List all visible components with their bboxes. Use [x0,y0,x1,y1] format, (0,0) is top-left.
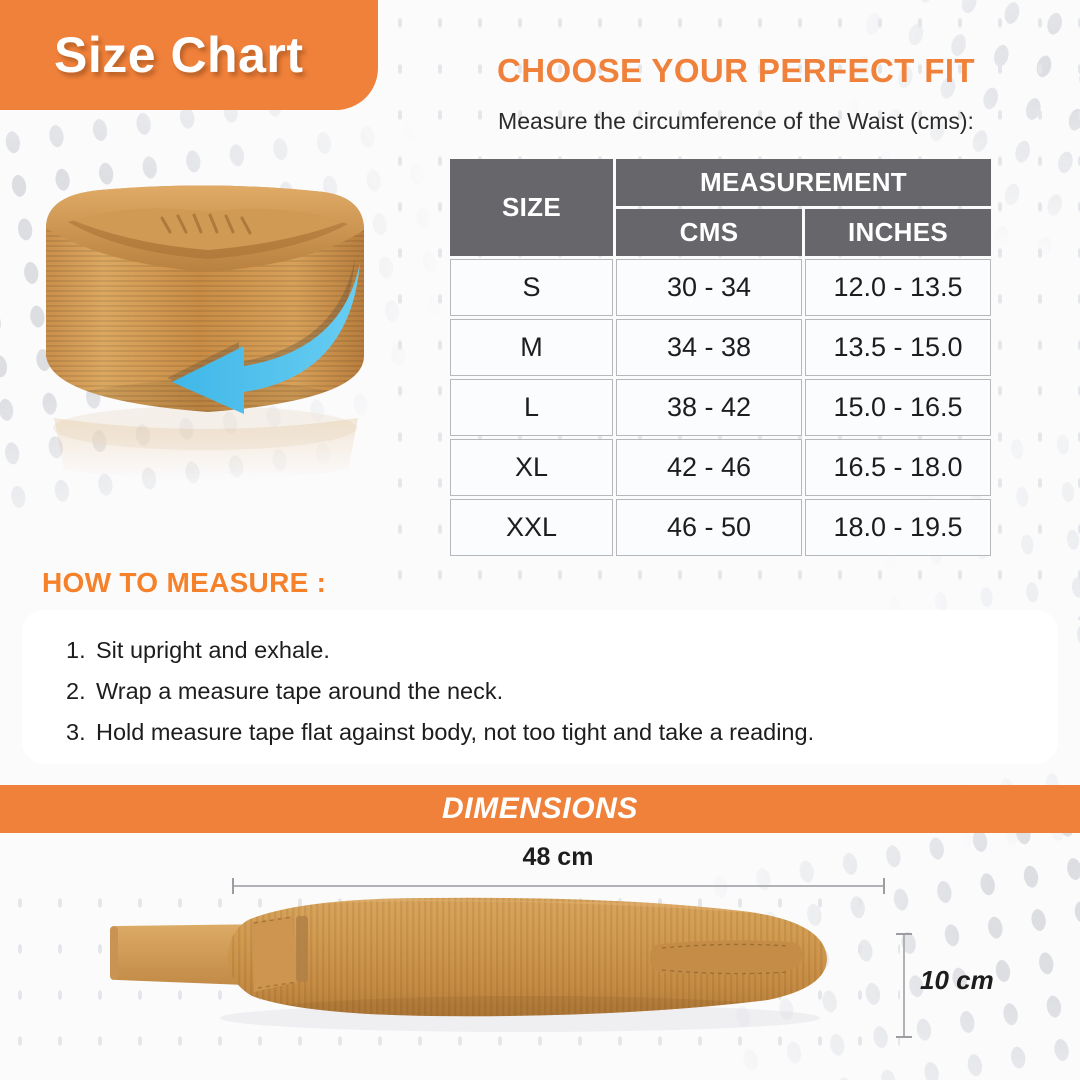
list-item: 3. Hold measure tape flat against body, … [66,712,1058,753]
cell-cms: 42 - 46 [616,439,802,496]
step-number: 3. [66,712,96,753]
table-row: XXL 46 - 50 18.0 - 19.5 [450,499,991,556]
cell-inches: 16.5 - 18.0 [805,439,991,496]
table-row: L 38 - 42 15.0 - 16.5 [450,379,991,436]
how-to-measure-list: 1. Sit upright and exhale. 2. Wrap a mea… [22,610,1058,753]
width-dimension-line [232,885,885,887]
cell-size: L [450,379,613,436]
step-number: 1. [66,630,96,671]
height-dimension-label: 10 cm [920,965,994,996]
dimensions-band: DIMENSIONS [0,785,1080,833]
step-text: Wrap a measure tape around the neck. [96,671,503,712]
cell-inches: 13.5 - 15.0 [805,319,991,376]
header-size: SIZE [450,159,613,256]
height-dimension-line [903,933,905,1038]
list-item: 2. Wrap a measure tape around the neck. [66,671,1058,712]
how-to-measure-card: 1. Sit upright and exhale. 2. Wrap a mea… [22,610,1058,764]
cervical-collar-flat-image [100,890,900,1040]
table-header-row-1: SIZE MEASUREMENT [450,159,991,206]
table-row: XL 42 - 46 16.5 - 18.0 [450,439,991,496]
list-item: 1. Sit upright and exhale. [66,630,1058,671]
table-row: S 30 - 34 12.0 - 13.5 [450,259,991,316]
how-to-measure-heading: HOW TO MEASURE : [42,567,326,599]
page-title: Size Chart [0,26,304,84]
header-measurement: MEASUREMENT [616,159,991,206]
step-text: Hold measure tape flat against body, not… [96,712,814,753]
size-chart-page: Size Chart CHOOSE YOUR PERFECT FIT Measu… [0,0,1080,1080]
cell-cms: 46 - 50 [616,499,802,556]
cell-size: XL [450,439,613,496]
size-table: SIZE MEASUREMENT CMS INCHES S 30 - 34 12… [447,156,994,559]
dimensions-label: DIMENSIONS [442,792,638,826]
fit-subtitle: Measure the circumference of the Waist (… [436,108,1036,135]
cell-inches: 18.0 - 19.5 [805,499,991,556]
cell-inches: 12.0 - 13.5 [805,259,991,316]
title-banner: Size Chart [0,0,378,110]
cell-cms: 30 - 34 [616,259,802,316]
cell-size: M [450,319,613,376]
table-row: M 34 - 38 13.5 - 15.0 [450,319,991,376]
cell-cms: 34 - 38 [616,319,802,376]
cell-cms: 38 - 42 [616,379,802,436]
cell-size: XXL [450,499,613,556]
step-number: 2. [66,671,96,712]
header-cms: CMS [616,209,802,256]
cell-size: S [450,259,613,316]
step-text: Sit upright and exhale. [96,630,330,671]
width-dimension-label: 48 cm [0,843,1080,872]
fit-heading: CHOOSE YOUR PERFECT FIT [436,52,1036,90]
cell-inches: 15.0 - 16.5 [805,379,991,436]
header-inches: INCHES [805,209,991,256]
cervical-collar-rolled-image [12,160,412,490]
